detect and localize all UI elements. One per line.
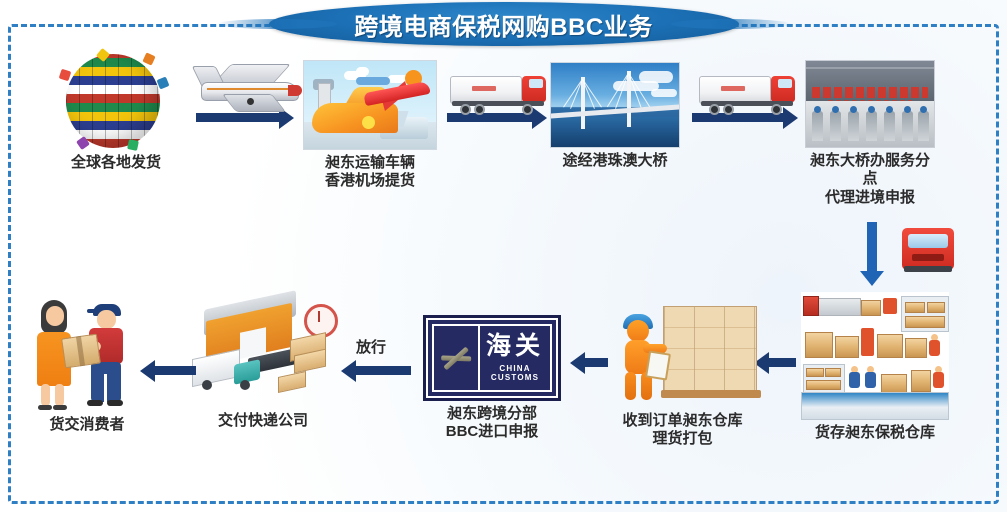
delivery-to-consumer-image [27, 296, 147, 412]
airport-scene-image [303, 60, 437, 150]
truck-illustration-1 [448, 70, 548, 118]
flow-step-6-label: 收到订单昶东仓库 理货打包 [600, 412, 765, 449]
flow-step-8[interactable]: 交付快递公司 [182, 296, 344, 430]
worker-pallet-image [603, 296, 763, 408]
customs-english-text: CHINA CUSTOMS [480, 364, 550, 382]
connector-arrow-6 [768, 358, 796, 367]
flow-step-2-label: 昶东运输车辆 香港机场提货 [303, 154, 437, 191]
truck-icon [450, 70, 546, 118]
warehouse-collage-image [801, 292, 949, 420]
flow-step-4[interactable]: 昶东大桥办服务分点 代理进境申报 [805, 60, 935, 207]
connector-arrow-8 [355, 366, 411, 375]
flow-step-1[interactable]: 全球各地发货 [28, 50, 204, 172]
courier-truck-icon [192, 354, 264, 388]
package-icon [61, 334, 101, 369]
airplane-icon [195, 58, 305, 124]
customs-chinese-text: 海关 [486, 334, 544, 359]
flow-step-2[interactable]: 昶东运输车辆 香港机场提货 [303, 60, 437, 191]
bridge-photo-image [550, 62, 680, 148]
flow-step-8-label: 交付快递公司 [182, 412, 344, 430]
caduceus-key-icon [436, 340, 477, 376]
truck-icon [699, 70, 795, 118]
flow-step-7-label: 昶东跨境分部 BBC进口申报 [421, 405, 563, 442]
flow-step-5-label: 货存昶东保税仓库 [800, 424, 950, 442]
customs-emblem-panel [434, 326, 480, 390]
china-customs-sign: 海关 CHINA CUSTOMS [423, 315, 561, 401]
flow-step-4-label: 昶东大桥办服务分点 代理进境申报 [805, 152, 935, 207]
flow-step-9-label: 货交消费者 [22, 416, 152, 434]
connector-arrow-7 [584, 358, 608, 367]
connector-arrow-5 [867, 222, 877, 272]
release-label: 放行 [356, 336, 386, 357]
truck-front-icon [902, 222, 954, 278]
flow-step-1-label: 全球各地发货 [28, 154, 204, 172]
airplane-illustration [190, 58, 310, 124]
courier-warehouse-image [182, 296, 344, 408]
truck-illustration-2 [697, 70, 797, 118]
flow-step-5[interactable]: 货存昶东保税仓库 [800, 292, 950, 442]
flow-step-3-label: 途经港珠澳大桥 [550, 152, 680, 170]
diagram-canvas: 跨境电商保税网购BBC业务 全球各地发货 [0, 0, 1007, 512]
flow-step-3[interactable]: 途经港珠澳大桥 [550, 62, 680, 170]
flags-globe-icon [58, 50, 174, 150]
connector-arrow-9 [154, 366, 196, 375]
warehouse-worker-figure [617, 312, 667, 400]
truck-front-illustration [900, 222, 956, 278]
page-title: 跨境电商保税网购BBC业务 [354, 7, 653, 42]
flow-step-6[interactable]: 收到订单昶东仓库 理货打包 [600, 296, 765, 449]
flow-step-9[interactable]: 货交消费者 [22, 296, 152, 434]
title-banner: 跨境电商保税网购BBC业务 [269, 2, 739, 46]
flow-step-7[interactable]: 海关 CHINA CUSTOMS 昶东跨境分部 BBC进口申报 [421, 315, 563, 442]
border-checkpoint-image [805, 60, 935, 148]
